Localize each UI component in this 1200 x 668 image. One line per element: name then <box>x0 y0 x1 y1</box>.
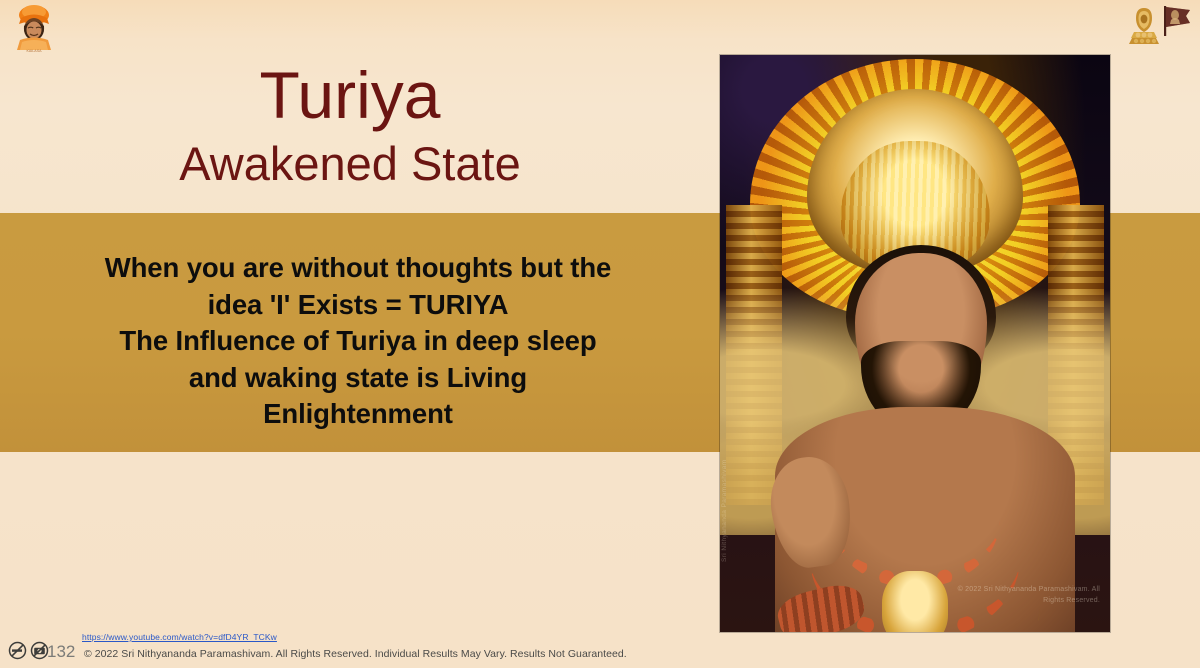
photo-watermark-side: Sri Nithyananda Paramashivam <box>721 459 728 562</box>
slide-footer: 132 https://www.youtube.com/watch?v=dfD4… <box>0 628 1200 668</box>
guru-portrait-photo: Sri Nithyananda Paramashivam © 2022 Sri … <box>720 55 1110 632</box>
copyright-notice: © 2022 Sri Nithyananda Paramashivam. All… <box>84 648 627 660</box>
deity-emblem-flag-logo <box>1128 2 1192 54</box>
no-smoking-icon <box>8 641 27 660</box>
slide-title: Turiya <box>0 62 700 128</box>
body-line-3: The Influence of Turiya in deep sleep <box>18 323 698 360</box>
photo-watermark: © 2022 Sri Nithyananda Paramashivam. All… <box>940 585 1100 606</box>
body-line-5: Enlightenment <box>18 396 698 433</box>
page-number: 132 <box>47 642 75 662</box>
presentation-slide: KAILASA Turiya Awakened <box>0 0 1200 668</box>
guru-portrait-logo: KAILASA <box>6 2 62 54</box>
restriction-icons <box>8 641 49 660</box>
slide-heading-block: Turiya Awakened State <box>0 62 700 187</box>
source-url-link[interactable]: https://www.youtube.com/watch?v=dfD4YR_T… <box>82 632 277 642</box>
bead-necklace-inner <box>830 453 1000 588</box>
slide-subtitle: Awakened State <box>0 140 700 187</box>
gold-pendant <box>882 571 948 632</box>
body-line-2: idea 'I' Exists = TURIYA <box>18 287 698 324</box>
slide-body-text: When you are without thoughts but the id… <box>18 250 698 433</box>
body-line-4: and waking state is Living <box>18 360 698 397</box>
body-line-1: When you are without thoughts but the <box>18 250 698 287</box>
svg-text:KAILASA: KAILASA <box>27 49 43 53</box>
